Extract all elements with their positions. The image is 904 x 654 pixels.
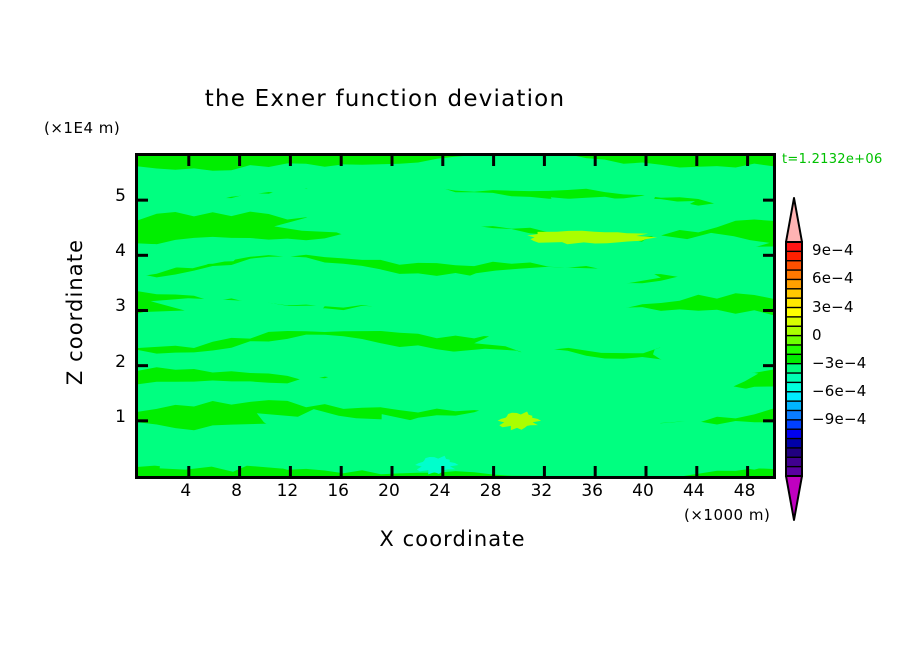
colorbar-band (786, 242, 802, 252)
colorbar-band (786, 326, 802, 336)
y-tick-label: 1 (100, 407, 126, 427)
colorbar-band (786, 457, 802, 467)
colorbar-tick-label: 3e−4 (812, 298, 854, 316)
colorbar (779, 196, 809, 522)
x-tick-label: 4 (166, 481, 206, 501)
colorbar-cap-bottom (786, 476, 802, 520)
colorbar-band (786, 308, 802, 318)
x-tick-label: 12 (267, 481, 307, 501)
colorbar-band (786, 364, 802, 374)
colorbar-tick-label: −3e−4 (812, 354, 866, 372)
y-tick-label: 5 (100, 186, 126, 206)
colorbar-gradient (779, 196, 809, 522)
colorbar-band (786, 317, 802, 327)
timestamp-annotation: t=1.2132e+06 (782, 152, 883, 167)
colorbar-band (786, 373, 802, 383)
colorbar-band (786, 279, 802, 289)
page-title: the Exner function deviation (0, 86, 770, 112)
colorbar-band (786, 429, 802, 439)
colorbar-band (786, 420, 802, 430)
colorbar-band (786, 345, 802, 355)
x-axis-title: X coordinate (135, 527, 770, 551)
x-tick-label: 48 (725, 481, 765, 501)
colorbar-cap-top (786, 198, 802, 242)
colorbar-band (786, 354, 802, 364)
colorbar-band (786, 382, 802, 392)
x-tick-label: 44 (674, 481, 714, 501)
colorbar-band (786, 270, 802, 280)
contour-field (138, 156, 773, 476)
x-tick-label: 28 (471, 481, 511, 501)
colorbar-band (786, 392, 802, 402)
x-tick-label: 8 (217, 481, 257, 501)
colorbar-band (786, 439, 802, 449)
colorbar-band (786, 336, 802, 346)
colorbar-band (786, 261, 802, 271)
y-axis-unit-label: (×1E4 m) (44, 119, 120, 137)
y-tick-label: 2 (100, 352, 126, 372)
y-tick-label: 4 (100, 241, 126, 261)
x-axis-unit-label: (×1000 m) (684, 506, 770, 524)
x-tick-label: 32 (521, 481, 561, 501)
colorbar-tick-label: 6e−4 (812, 269, 854, 287)
x-tick-label: 24 (420, 481, 460, 501)
colorbar-tick-label: 0 (812, 326, 822, 344)
colorbar-band (786, 401, 802, 411)
colorbar-band (786, 251, 802, 261)
contour-plot-area (135, 153, 776, 479)
x-tick-label: 40 (623, 481, 663, 501)
y-axis-title: Z coordinate (63, 212, 87, 412)
y-tick-label: 3 (100, 296, 126, 316)
colorbar-band (786, 448, 802, 458)
x-tick-label: 16 (318, 481, 358, 501)
colorbar-tick-label: −6e−4 (812, 382, 866, 400)
colorbar-band (786, 298, 802, 308)
x-tick-label: 36 (572, 481, 612, 501)
x-tick-label: 20 (369, 481, 409, 501)
colorbar-band (786, 410, 802, 420)
colorbar-tick-label: −9e−4 (812, 410, 866, 428)
colorbar-band (786, 289, 802, 299)
colorbar-tick-label: 9e−4 (812, 241, 854, 259)
colorbar-band (786, 467, 802, 477)
